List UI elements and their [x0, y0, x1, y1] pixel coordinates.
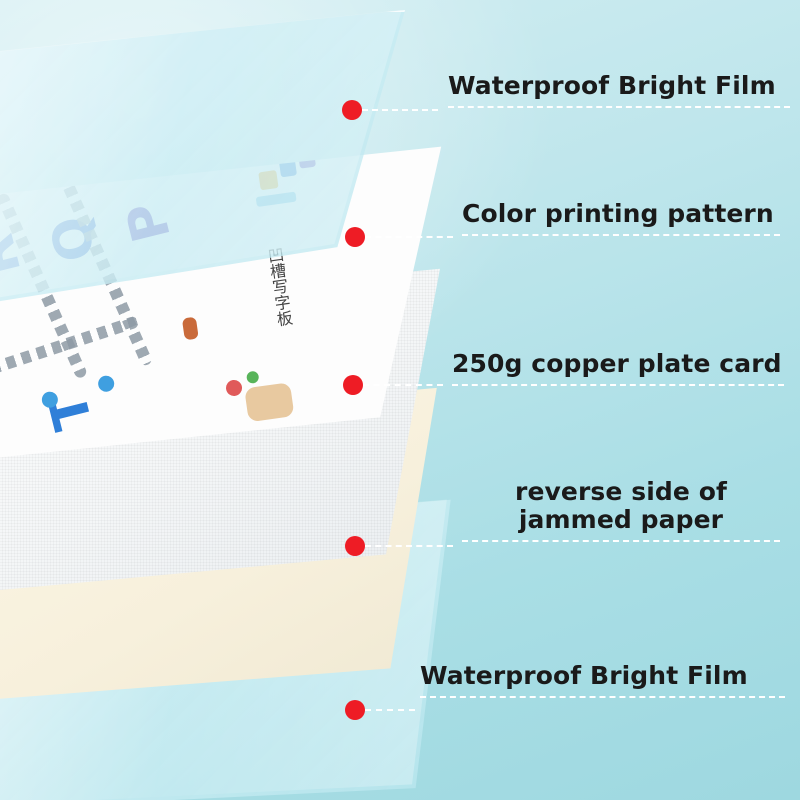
callout-text: Waterproof Bright Film: [448, 72, 790, 100]
callout-jammed-paper: [345, 536, 453, 556]
callout-text: reverse side of jammed paper: [462, 478, 780, 534]
callout-marker-dot: [345, 536, 365, 556]
diagram-root: S R Q P S T 凹槽写字板: [0, 0, 800, 800]
callout-underline: [420, 696, 785, 698]
callout-text: Color printing pattern: [462, 200, 780, 228]
callout-marker-dot: [342, 100, 362, 120]
callout-label-film-bottom: Waterproof Bright Film: [420, 662, 785, 698]
callout-leader-line: [362, 109, 438, 111]
callout-underline: [462, 540, 780, 542]
artwork-caption: 凹槽写字板: [265, 246, 292, 327]
artwork-groove-cap: [97, 375, 115, 393]
callout-text: 250g copper plate card: [452, 350, 784, 378]
callout-label-film-top: Waterproof Bright Film: [448, 72, 790, 108]
callout-color-print: [345, 227, 453, 247]
callout-marker-dot: [345, 227, 365, 247]
callout-label-jammed-paper: reverse side of jammed paper: [462, 478, 780, 542]
callout-text: Waterproof Bright Film: [420, 662, 785, 690]
callout-film-bottom: [345, 700, 415, 720]
callout-marker-dot: [345, 700, 365, 720]
callout-leader-line: [365, 709, 415, 711]
callout-label-copper-card: 250g copper plate card: [452, 350, 784, 386]
callout-marker-dot: [343, 375, 363, 395]
callout-film-top: [342, 100, 438, 120]
artwork-chip: [244, 382, 294, 422]
callout-underline: [452, 384, 784, 386]
callout-leader-line: [365, 545, 453, 547]
callout-copper-card: [343, 375, 443, 395]
callout-label-color-print: Color printing pattern: [462, 200, 780, 236]
callout-leader-line: [363, 384, 443, 386]
artwork-chip: [225, 379, 243, 397]
callout-underline: [448, 106, 790, 108]
artwork-chip: [182, 317, 199, 341]
artwork-chip: [246, 371, 260, 385]
callout-leader-line: [365, 236, 453, 238]
callout-underline: [462, 234, 780, 236]
